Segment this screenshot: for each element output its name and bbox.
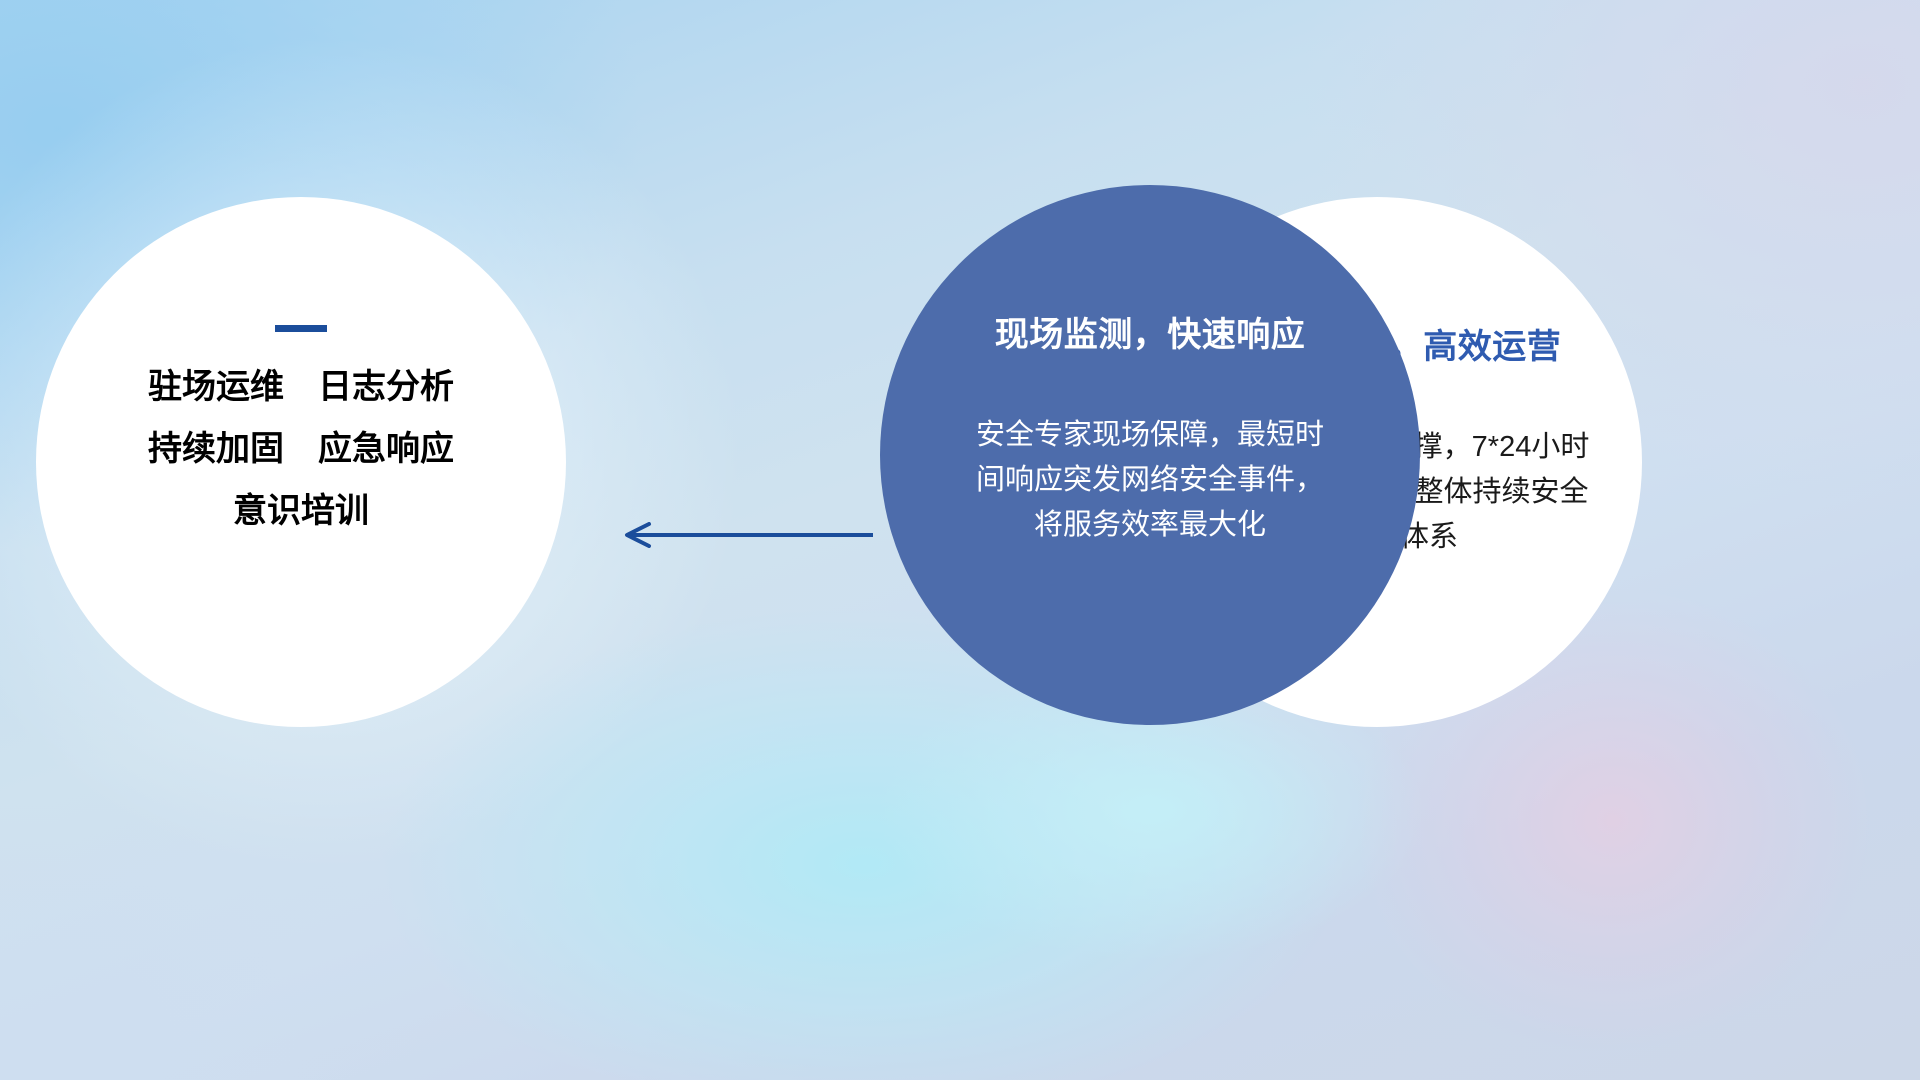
middle-circle-title: 现场监测，快速响应 xyxy=(995,307,1306,356)
list-item: 持续加固 应急响应 xyxy=(148,432,454,466)
middle-circle-body: 安全专家现场保障，最短时间响应突发网络安全事件，将服务效率最大化 xyxy=(975,413,1325,548)
middle-service-circle: 现场监测，快速响应 安全专家现场保障，最短时间响应突发网络安全事件，将服务效率最… xyxy=(880,185,1420,725)
divider-dash-icon xyxy=(275,325,327,332)
left-circle-keyword-list: 驻场运维 日志分析 持续加固 应急响应 意识培训 xyxy=(148,370,454,528)
left-arrow-icon xyxy=(605,522,875,548)
slide-canvas: 驻场运维 日志分析 持续加固 应急响应 意识培训 持续防护，高效运营 远程专家团… xyxy=(0,0,1920,1080)
list-item: 驻场运维 日志分析 xyxy=(148,370,454,404)
list-item: 意识培训 xyxy=(148,494,454,528)
left-service-circle: 驻场运维 日志分析 持续加固 应急响应 意识培训 xyxy=(36,197,566,727)
